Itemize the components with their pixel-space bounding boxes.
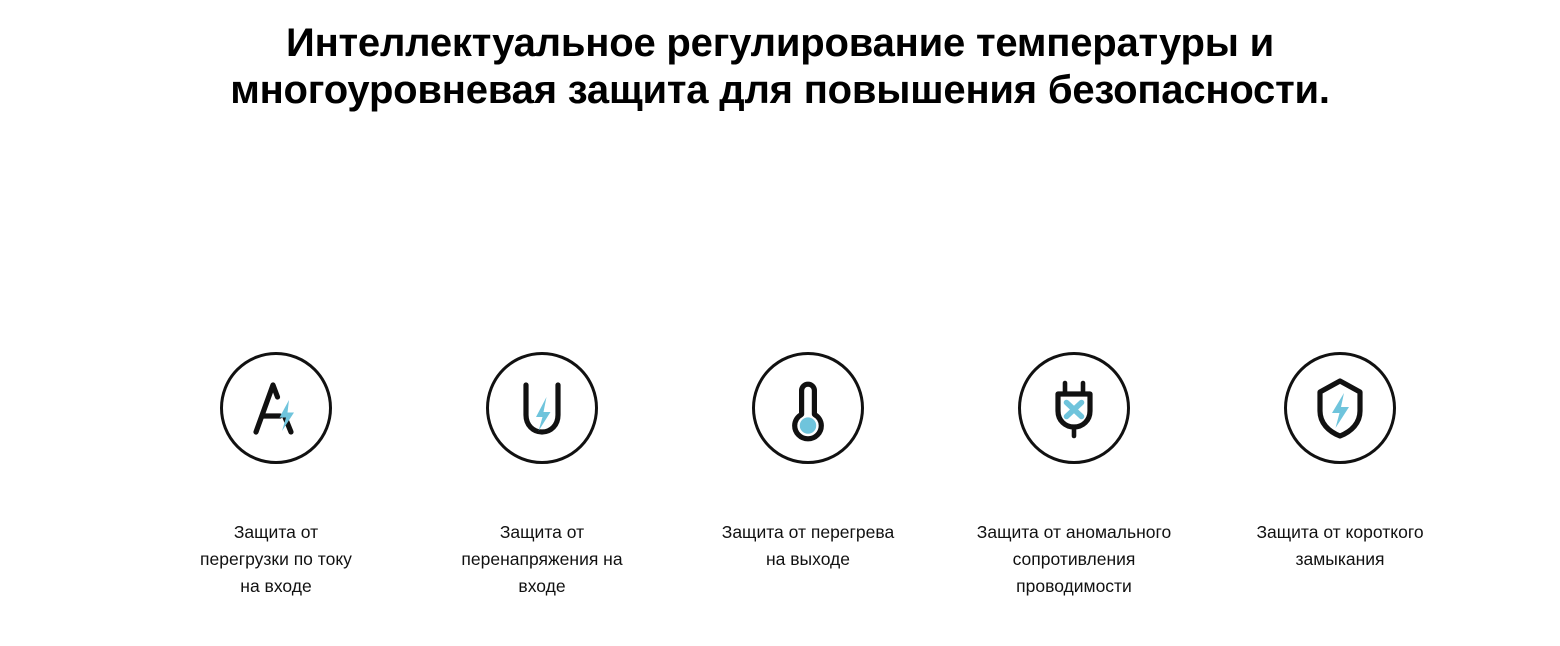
plug-cross-icon	[1037, 371, 1111, 445]
safety-features-section: Интеллектуальное регулирование температу…	[0, 0, 1560, 646]
ampere-bolt-icon	[239, 371, 313, 445]
icon-circle-overcurrent	[220, 352, 332, 464]
feature-item-short-circuit: Защита от короткого замыкания	[1212, 352, 1468, 573]
feature-item-overcurrent: Защита от перегрузки по току на входе	[148, 352, 404, 600]
feature-item-overvoltage: Защита от перенапряжения на входе	[414, 352, 670, 600]
icon-circle-overheat	[752, 352, 864, 464]
feature-caption-overvoltage: Защита от перенапряжения на входе	[436, 519, 648, 600]
feature-caption-overheat: Защита от перегрева на выходе	[685, 519, 931, 573]
icon-circle-short-circuit	[1284, 352, 1396, 464]
feature-list: Защита от перегрузки по току на входе За…	[148, 352, 1468, 600]
page-title: Интеллектуальное регулирование температу…	[200, 20, 1360, 114]
feature-item-overheat: Защита от перегрева на выходе	[680, 352, 936, 573]
feature-caption-overcurrent: Защита от перегрузки по току на входе	[170, 519, 382, 600]
feature-caption-abnormal-resistance: Защита от аномального сопротивления пров…	[951, 519, 1197, 600]
feature-item-abnormal-resistance: Защита от аномального сопротивления пров…	[946, 352, 1202, 600]
shield-bolt-icon	[1303, 371, 1377, 445]
voltage-bolt-icon	[505, 371, 579, 445]
thermometer-icon	[771, 371, 845, 445]
icon-circle-abnormal-resistance	[1018, 352, 1130, 464]
headline-container: Интеллектуальное регулирование температу…	[0, 20, 1560, 114]
feature-caption-short-circuit: Защита от короткого замыкания	[1234, 519, 1446, 573]
icon-circle-overvoltage	[486, 352, 598, 464]
